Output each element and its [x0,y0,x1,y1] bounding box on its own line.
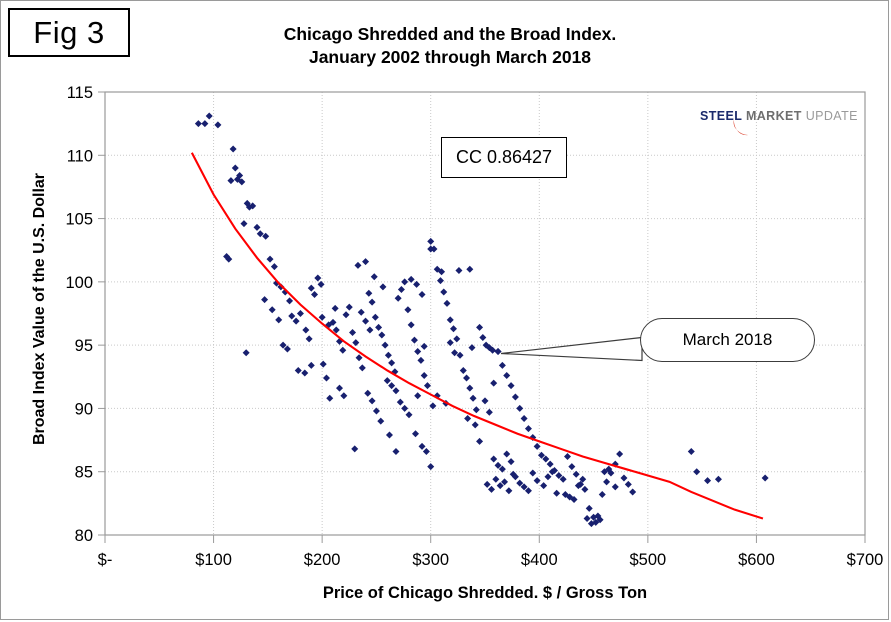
data-point [306,335,313,342]
svg-text:110: 110 [67,147,93,165]
data-point [503,372,510,379]
data-point [388,382,395,389]
data-point [411,337,418,344]
data-point [362,318,369,325]
data-point [466,266,473,273]
data-point [421,343,428,350]
data-point [332,305,339,312]
data-point [440,288,447,295]
data-point [503,450,510,457]
data-point [499,362,506,369]
data-point [297,310,304,317]
data-point [320,361,327,368]
svg-text:85: 85 [75,464,93,482]
data-point [476,438,483,445]
data-point [704,477,711,484]
correlation-value: CC 0.86427 [456,147,552,168]
data-point [369,299,376,306]
svg-text:80: 80 [75,527,93,545]
svg-text:$200: $200 [304,551,341,569]
data-point [384,377,391,384]
data-point [424,382,431,389]
data-point [486,409,493,416]
data-point [414,348,421,355]
svg-text:$500: $500 [629,551,666,569]
data-point [423,448,430,455]
data-point [568,463,575,470]
data-point [401,278,408,285]
data-point [397,399,404,406]
data-point [505,487,512,494]
data-point [490,456,497,463]
data-point [271,263,278,270]
data-point [417,357,424,364]
data-point [508,458,515,465]
data-point [378,332,385,339]
data-point [308,362,315,369]
data-point [195,120,202,127]
data-point [293,318,300,325]
data-point [362,258,369,265]
logo-word-market: MARKET [746,109,802,123]
data-point [326,395,333,402]
data-point [243,349,250,356]
data-point [484,481,491,488]
data-point [444,300,451,307]
data-point [599,491,606,498]
data-point [693,468,700,475]
data-point [401,405,408,412]
data-point [419,443,426,450]
data-point-march-2018 [495,348,502,355]
data-point [308,285,315,292]
data-point [369,397,376,404]
data-point [392,448,399,455]
data-point [254,224,261,231]
data-point [323,375,330,382]
data-point [232,164,239,171]
data-point [377,418,384,425]
logo-word-update: UPDATE [806,109,858,123]
data-point [455,267,462,274]
data-point [466,385,473,392]
data-point [453,335,460,342]
svg-text:95: 95 [75,337,93,355]
data-point [715,476,722,483]
data-point [366,326,373,333]
data-point [240,220,247,227]
data-point [356,354,363,361]
data-point [419,291,426,298]
svg-text:90: 90 [75,400,93,418]
scatter-plot: 80859095100105110115$-$100$200$300$400$5… [0,0,891,622]
data-point [214,121,221,128]
data-point [437,277,444,284]
data-point [450,325,457,332]
data-point [275,316,282,323]
data-point [516,405,523,412]
data-point [479,334,486,341]
data-point [688,448,695,455]
data-point [359,364,366,371]
data-point [460,367,467,374]
data-point [620,475,627,482]
data-point [544,473,551,480]
data-point [351,445,358,452]
data-point [302,326,309,333]
data-point [547,461,554,468]
svg-text:$400: $400 [521,551,558,569]
data-point [267,256,274,263]
data-point [201,120,208,127]
data-point [354,262,361,269]
data-point [427,238,434,245]
data-point [421,372,428,379]
data-point [395,295,402,302]
callout-label: March 2018 [683,330,773,350]
data-point [427,463,434,470]
svg-text:105: 105 [65,211,93,229]
data-point [616,450,623,457]
data-point [581,486,588,493]
data-point [261,296,268,303]
data-point [206,113,213,120]
data-point [379,283,386,290]
data-point [529,469,536,476]
data-point [586,505,593,512]
logo-text: STEEL MARKET UPDATE [700,109,858,123]
data-point [364,390,371,397]
data-point [564,453,571,460]
data-point [612,483,619,490]
svg-text:$300: $300 [412,551,449,569]
data-point [385,352,392,359]
data-point [375,324,382,331]
data-point [625,481,632,488]
data-point [540,482,547,489]
data-point [553,490,560,497]
data-point [406,411,413,418]
march-2018-callout: March 2018 [640,318,815,362]
data-point [476,324,483,331]
steel-market-update-logo: STEEL MARKET UPDATE [690,98,866,140]
data-point [482,397,489,404]
data-point [629,488,636,495]
data-point [371,273,378,280]
data-point [382,342,389,349]
data-point [343,311,350,318]
data-point [346,304,353,311]
data-point [398,286,405,293]
data-point [339,347,346,354]
data-point [488,486,495,493]
data-point [521,415,528,422]
data-point [336,385,343,392]
data-point [286,297,293,304]
data-point [470,395,477,402]
data-point [492,476,499,483]
data-point [392,387,399,394]
logo-word-steel: STEEL [700,109,742,123]
data-point [534,477,541,484]
data-point [386,432,393,439]
svg-text:$700: $700 [847,551,884,569]
data-point [463,375,470,382]
svg-text:100: 100 [65,274,93,292]
data-point [762,475,769,482]
data-point [358,309,365,316]
svg-text:$600: $600 [738,551,775,569]
svg-text:$-: $- [98,551,113,569]
data-point [447,316,454,323]
data-point [525,425,532,432]
data-point [472,421,479,428]
data-point [230,145,237,152]
data-point [408,321,415,328]
data-point [508,382,515,389]
data-point [365,290,372,297]
data-point [340,392,347,399]
data-point [473,406,480,413]
data-point [404,306,411,313]
data-point [269,306,276,313]
correlation-badge: CC 0.86427 [441,137,567,178]
data-point [490,380,497,387]
data-point [603,478,610,485]
data-point [584,515,591,522]
data-point [295,367,302,374]
data-point [311,291,318,298]
data-point [388,359,395,366]
data-point [414,392,421,399]
data-point [464,415,471,422]
data-point [227,177,234,184]
data-point [512,394,519,401]
data-point [352,339,359,346]
data-point [412,430,419,437]
callout-pointer [501,337,642,360]
data-point [314,275,321,282]
data-point [349,329,356,336]
data-point [288,313,295,320]
svg-text:115: 115 [67,84,93,102]
svg-text:$100: $100 [195,551,232,569]
data-point [372,314,379,321]
data-point [319,314,326,321]
data-point [301,369,308,376]
